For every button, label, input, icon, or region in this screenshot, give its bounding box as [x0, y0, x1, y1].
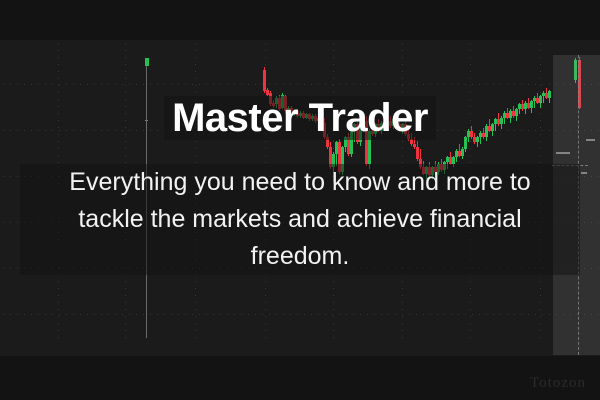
subtitle-line-2: tackle the markets and achieve financial — [20, 201, 580, 238]
subtitle-line-3: freedom. — [20, 238, 580, 275]
subtitle-line-1: Everything you need to know and more to — [20, 164, 580, 201]
watermark-label: Totozon — [530, 375, 586, 392]
promo-banner: Master Trader Everything you need to kno… — [0, 0, 600, 400]
page-title: Master Trader — [164, 96, 436, 140]
hero-subtitle: Everything you need to know and more to … — [20, 164, 580, 275]
hero-text-overlay: Master Trader Everything you need to kno… — [0, 0, 600, 400]
